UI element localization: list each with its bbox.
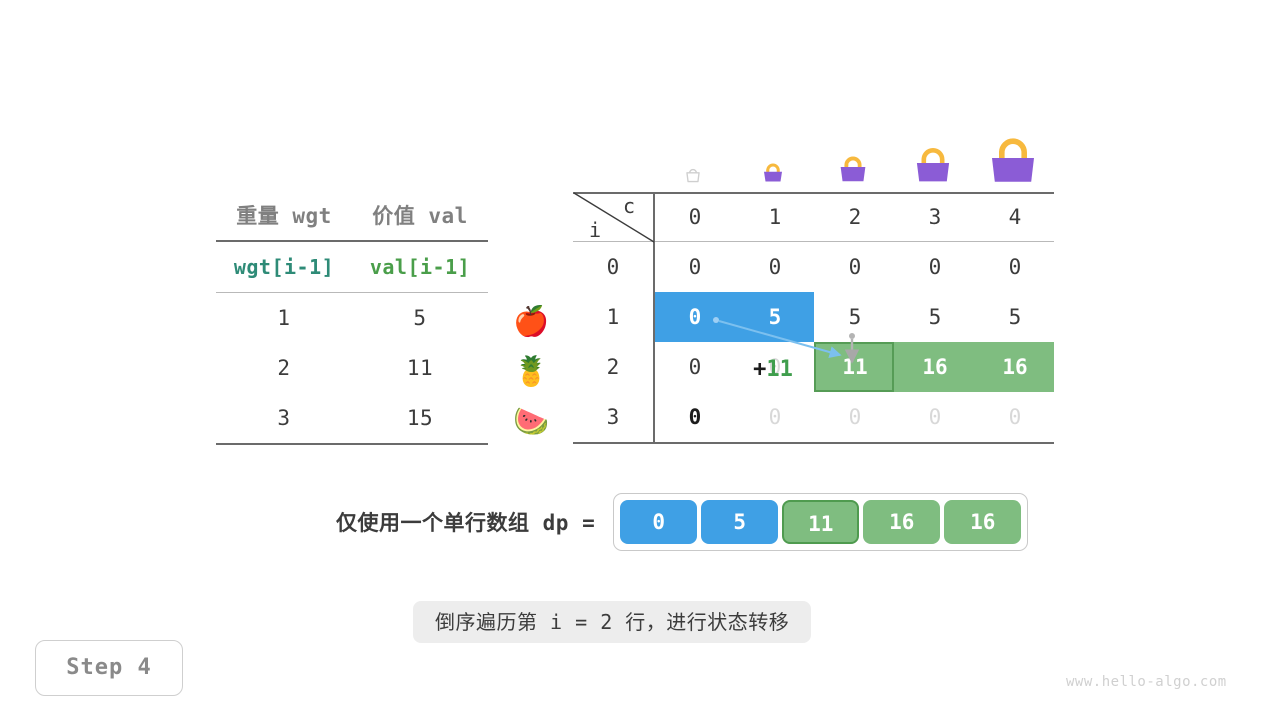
wv-row-3: 3 15: [216, 393, 488, 443]
wv-cell-wgt-2: 2: [216, 356, 352, 380]
pineapple-icon: 🍍: [508, 346, 554, 396]
dp-cell-3-1: 0: [735, 392, 815, 442]
footer-watermark: www.hello-algo.com: [1066, 674, 1227, 690]
wv-cell-wgt-1: 1: [216, 306, 352, 330]
dp-cell-3-2: 0: [815, 392, 895, 442]
dp-row-index-0: 0: [573, 242, 653, 292]
bag-icon-empty: [653, 164, 733, 190]
step-badge: Step 4: [35, 640, 183, 696]
corner-label-i: i: [589, 218, 601, 242]
dp-col-header-4: 4: [975, 192, 1055, 242]
wv-header-row: 重量 wgt 价值 val: [216, 190, 488, 240]
wv-header-value: 价值 val: [352, 200, 488, 230]
dp-col-header-2: 2: [815, 192, 895, 242]
dp-cell-3-4: 0: [975, 392, 1055, 442]
bag-icon-3: [893, 140, 973, 190]
dp-cell-0-2: 0: [815, 242, 895, 292]
dp-col-header-1: 1: [735, 192, 815, 242]
wv-divider-bottom: [216, 443, 488, 445]
bag-icon-4: [973, 130, 1053, 190]
corner-diagonal-icon: [573, 192, 655, 243]
apple-icon: 🍎: [508, 296, 554, 346]
wv-subheader-wgt: wgt[i-1]: [216, 255, 352, 279]
dp-cell-2-3: 16: [895, 342, 975, 392]
bag-icon-2: [813, 148, 893, 190]
plus-sign: +: [753, 357, 766, 382]
wv-cell-val-1: 5: [352, 306, 488, 330]
dp-cell-1-1: 5: [735, 292, 815, 342]
dp-cell-1-2: 5: [815, 292, 895, 342]
dp-cell-2-0: 0: [655, 342, 735, 392]
dp-cell-0-4: 0: [975, 242, 1055, 292]
dp-row-3: 3 0 0 0 0 0: [573, 392, 1054, 442]
wv-cell-val-3: 15: [352, 406, 488, 430]
dp-col-header-0: 0: [655, 192, 735, 242]
dp-row-2: 2 0 0 11 16 16: [573, 342, 1054, 392]
wv-subheader-val: val[i-1]: [352, 255, 488, 279]
dp-row-index-3: 3: [573, 392, 653, 442]
dp-cell-3-0: 0: [655, 392, 735, 442]
wv-cell-wgt-3: 3: [216, 406, 352, 430]
plus-value: 11: [766, 357, 793, 382]
fruit-icon-column: 🍎 🍍 🍉: [508, 296, 554, 446]
dp-row-index-1: 1: [573, 292, 653, 342]
dp-cell-2-4: 16: [975, 342, 1055, 392]
dp-cell-1-0: 0: [655, 292, 735, 342]
dp-cell-1-3: 5: [895, 292, 975, 342]
wv-row-1: 1 5: [216, 293, 488, 343]
dp-cell-0-1: 0: [735, 242, 815, 292]
dp-array-cell-1[interactable]: 5: [701, 500, 778, 544]
dp-array-cell-2[interactable]: 11: [782, 500, 859, 544]
dp-cell-0-0: 0: [655, 242, 735, 292]
bag-capacity-row: [573, 118, 1054, 190]
corner-label-c: c: [623, 194, 635, 218]
dp-cell-2-2: 11: [815, 342, 895, 392]
bag-icon-1: [733, 156, 813, 190]
dp-cell-1-4: 5: [975, 292, 1055, 342]
dp-row-index-2: 2: [573, 342, 653, 392]
dp-col-header-3: 3: [895, 192, 975, 242]
dp-table-bottom-rule: [573, 442, 1054, 444]
dp-array-cell-3[interactable]: 16: [863, 500, 940, 544]
wv-cell-val-2: 11: [352, 356, 488, 380]
wv-header-weight: 重量 wgt: [216, 200, 352, 230]
dp-array-box: 0 5 11 16 16: [613, 493, 1028, 551]
slide-canvas: 重量 wgt 价值 val wgt[i-1] val[i-1] 1 5 2 11…: [0, 0, 1280, 720]
dp-row-0: 0 0 0 0 0 0: [573, 242, 1054, 292]
caption-text: 倒序遍历第 i = 2 行，进行状态转移: [413, 601, 811, 643]
dp-array-cell-0[interactable]: 0: [620, 500, 697, 544]
dp-cell-0-3: 0: [895, 242, 975, 292]
dp-array-cell-4[interactable]: 16: [944, 500, 1021, 544]
dp-table: i c 0 1 2 3 4 0 0 0 0 0 0 1 0 5 5 5 5 2 …: [573, 192, 1054, 444]
wv-subheader-row: wgt[i-1] val[i-1]: [216, 242, 488, 292]
dp-cell-3-3: 0: [895, 392, 975, 442]
dp-row-1: 1 0 5 5 5 5: [573, 292, 1054, 342]
weight-value-table: 重量 wgt 价值 val wgt[i-1] val[i-1] 1 5 2 11…: [216, 190, 488, 445]
value-increment-label: +11: [733, 345, 813, 395]
watermelon-icon: 🍉: [508, 396, 554, 446]
wv-row-2: 2 11: [216, 343, 488, 393]
dp-array-label: 仅使用一个单行数组 dp =: [336, 507, 595, 537]
dp-array-section: 仅使用一个单行数组 dp = 0 5 11 16 16: [336, 494, 1028, 550]
